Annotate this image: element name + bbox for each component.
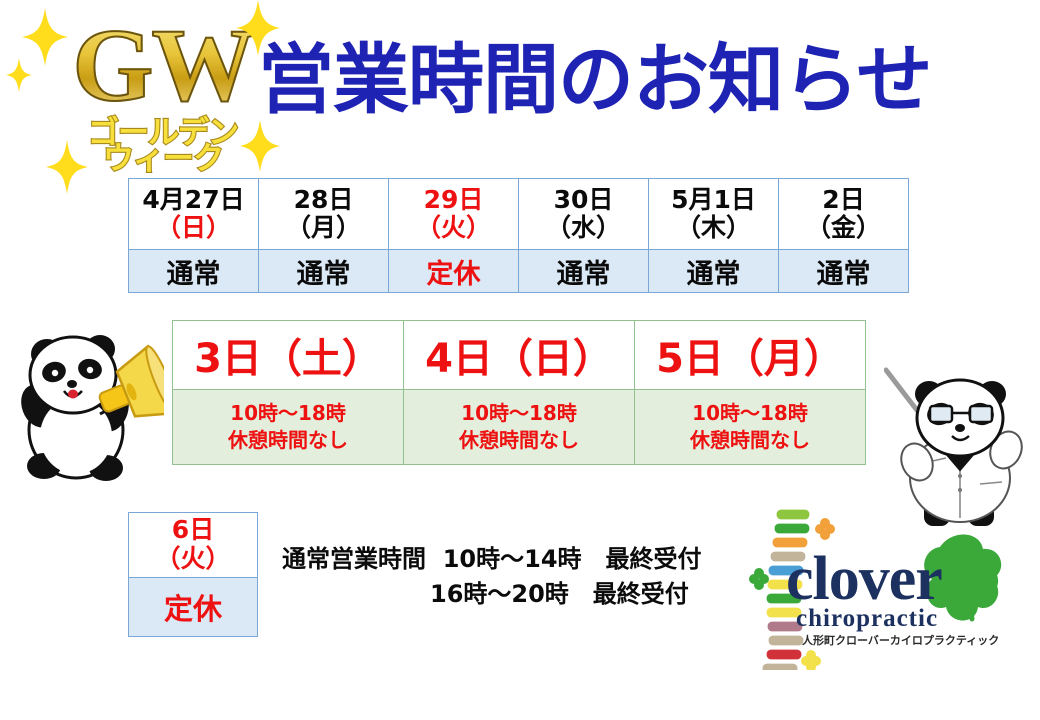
date-line1: 30日 [554,185,614,214]
date-line1: 2日 [822,185,864,214]
status-badge: 通常 [779,250,909,293]
table-cell-date: 28日 （月） [259,179,389,250]
weekend-schedule-table: 3日（土） 4日（日） 5日（月） 10時〜18時 休憩時間なし 10時〜18時… [172,320,866,465]
page-title: 営業時間のお知らせ [258,42,931,118]
table-row-date: 6日 （火） [129,513,258,578]
clover-logo-word: clover [786,548,942,610]
status-badge: 定休 [389,250,519,293]
hours-line1: 10時〜18時 [230,401,346,425]
date-line1: 5月1日 [671,185,756,214]
date-line1: 6日 [172,515,214,544]
table-cell-date: 5月1日 （木） [649,179,779,250]
table-cell-date: 4月27日 （日） [129,179,259,250]
table-cell-date: 3日（土） [173,321,404,390]
panda-megaphone-illustration [14,318,164,493]
table-cell-date: 4日（日） [404,321,635,390]
clover-chiropractic-logo: clover chiropractic 人形町クローバーカイロプラクティック [740,505,1005,670]
table-cell-hours: 10時〜18時 休憩時間なし [635,390,866,465]
hours-line2: 休憩時間なし [228,428,348,452]
normal-hours-note: 通常営業時間 10時〜14時 最終受付 16時〜20時 最終受付 [282,542,702,612]
table-cell-date: 6日 （火） [129,513,258,578]
table-cell-date: 29日 （火） [389,179,519,250]
date-line2: （水） [546,213,621,242]
date-line2: （火） [416,213,491,242]
sparkle-icon [46,140,88,194]
status-badge: 通常 [519,250,649,293]
date-line2: （月） [286,213,361,242]
table-cell-date: 2日 （金） [779,179,909,250]
poster-canvas: GW ゴールデン ウィーク 営業時間のお知らせ 4月27日 （日） 28日 （月… [0,0,1040,720]
status-badge: 通常 [649,250,779,293]
status-badge: 通常 [129,250,259,293]
normal-hours-line1: 通常営業時間 10時〜14時 最終受付 [282,545,702,573]
golden-week-schedule-table: 4月27日 （日） 28日 （月） 29日 （火） 30日 （水） 5月1日 （… [128,178,909,293]
table-row-dates: 3日（土） 4日（日） 5日（月） [173,321,866,390]
table-cell-hours: 10時〜18時 休憩時間なし [173,390,404,465]
date-line2: （日） [156,213,231,242]
date-line1: 4月27日 [142,185,244,214]
date-line1: 29日 [424,185,484,214]
date-line1: 28日 [294,185,354,214]
normal-hours-time2: 16時〜20時 最終受付 [282,577,702,612]
clover-logo-sub: chiropractic [796,606,938,631]
sparkle-icon [240,120,280,172]
day6-schedule-table: 6日 （火） 定休 [128,512,258,637]
sparkle-icon [6,58,32,92]
table-cell-date: 30日 （水） [519,179,649,250]
normal-hours-time1: 10時〜14時 最終受付 [443,545,702,573]
hours-line1: 10時〜18時 [461,401,577,425]
table-row-status: 通常 通常 定休 通常 通常 通常 [129,250,909,293]
date-line2: （木） [676,213,751,242]
clover-logo-jp: 人形町クローバーカイロプラクティック [802,635,999,646]
table-row-dates: 4月27日 （日） 28日 （月） 29日 （火） 30日 （水） 5月1日 （… [129,179,909,250]
table-cell-date: 5日（月） [635,321,866,390]
table-row-hours: 10時〜18時 休憩時間なし 10時〜18時 休憩時間なし 10時〜18時 休憩… [173,390,866,465]
date-line2: （火） [155,544,230,573]
status-badge: 通常 [259,250,389,293]
hours-line1: 10時〜18時 [692,401,808,425]
table-row-status: 定休 [129,578,258,637]
table-cell-hours: 10時〜18時 休憩時間なし [404,390,635,465]
date-line2: （金） [806,213,881,242]
normal-hours-label: 通常営業時間 [282,545,426,573]
gw-logo-subtitle-line2: ウィーク [58,144,268,175]
status-badge: 定休 [129,578,258,637]
hours-line2: 休憩時間なし [459,428,579,452]
hours-line2: 休憩時間なし [690,428,810,452]
